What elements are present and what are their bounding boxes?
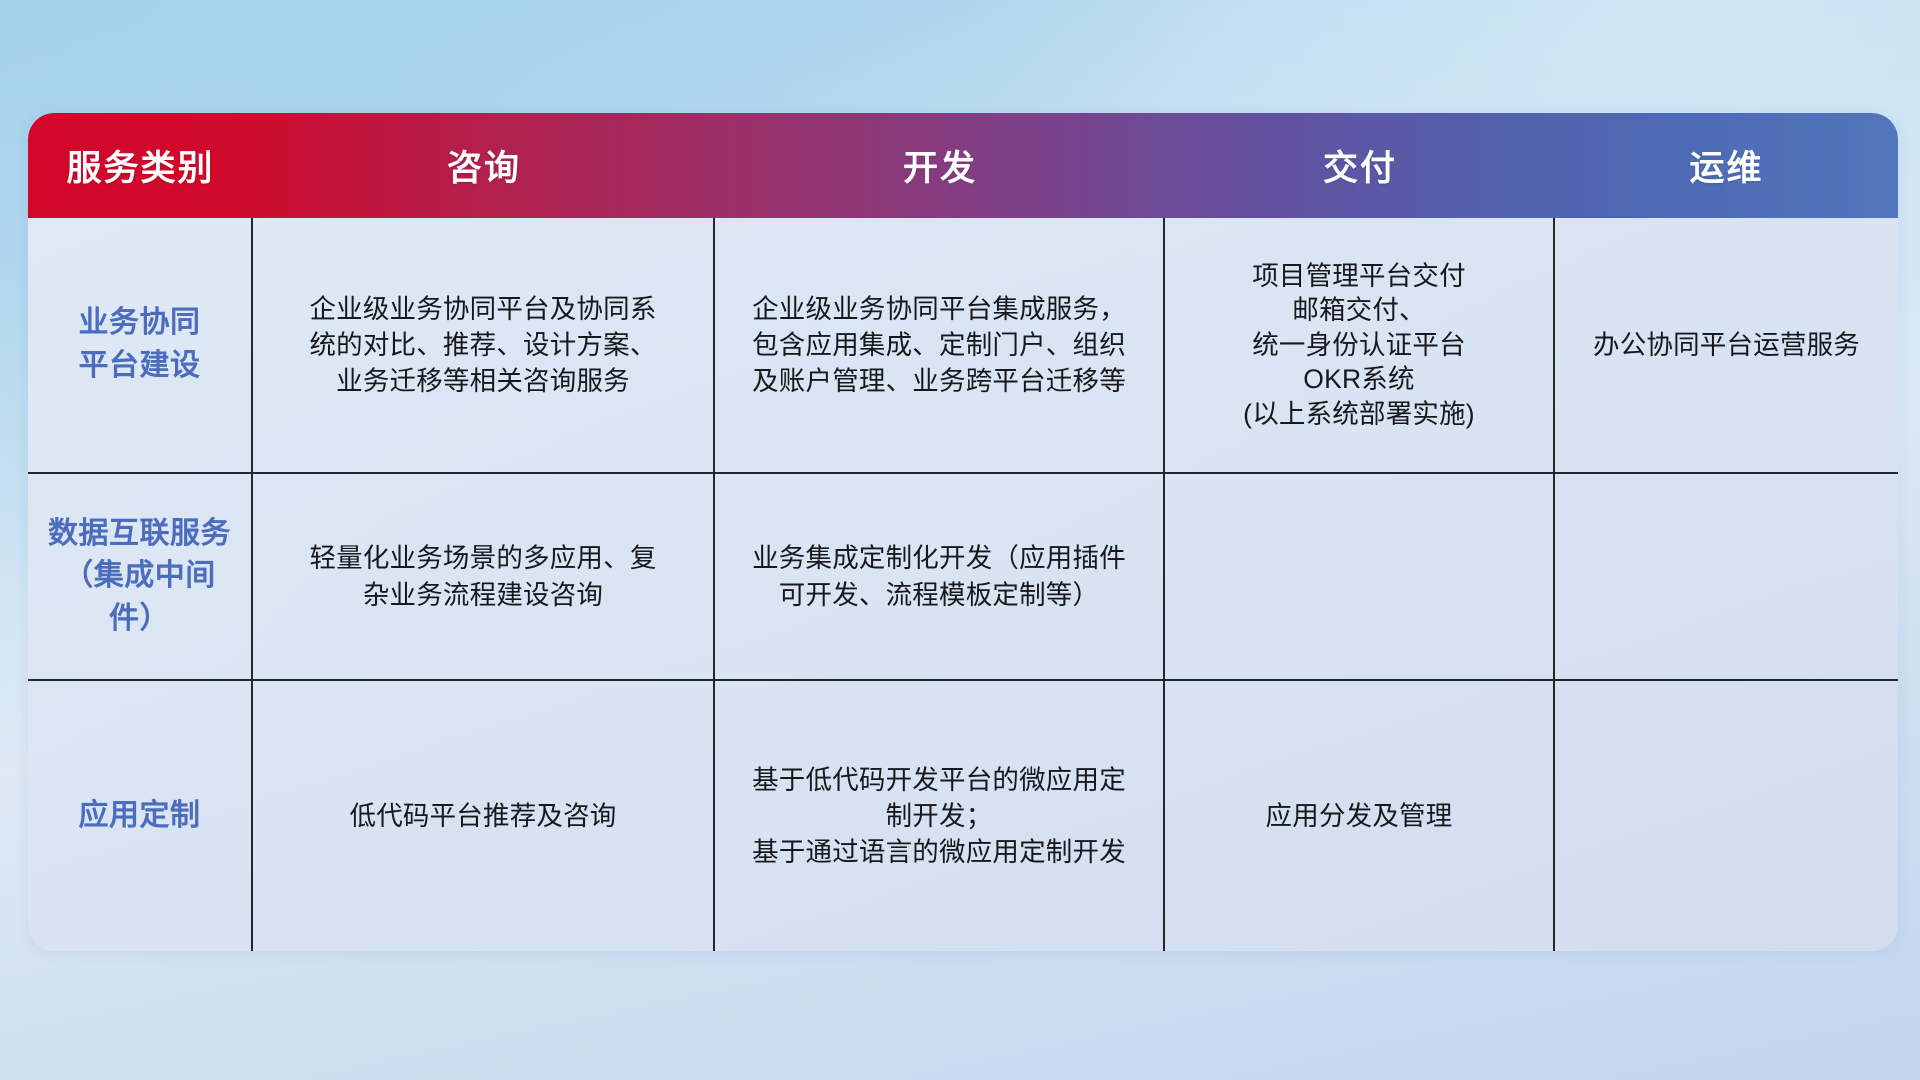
cell-operations — [1555, 474, 1898, 679]
row-category-label: 应用定制 — [79, 795, 201, 838]
header-cell-service-category: 服务类别 — [28, 140, 253, 191]
cell-development: 基于低代码开发平台的微应用定 制开发； 基于通过语言的微应用定制开发 — [715, 681, 1165, 951]
cell-text: 基于低代码开发平台的微应用定 制开发； 基于通过语言的微应用定制开发 — [752, 762, 1126, 870]
table-row: 数据互联服务 （集成中间件） 轻量化业务场景的多应用、复 杂业务流程建设咨询 业… — [28, 474, 1898, 681]
table-row: 应用定制 低代码平台推荐及咨询 基于低代码开发平台的微应用定 制开发； 基于通过… — [28, 681, 1898, 951]
cell-text: 轻量化业务场景的多应用、复 杂业务流程建设咨询 — [309, 540, 656, 612]
cell-operations — [1555, 681, 1898, 951]
header-cell-operations: 运维 — [1555, 140, 1898, 191]
cell-text: 低代码平台推荐及咨询 — [350, 798, 617, 834]
cell-delivery: 项目管理平台交付 邮箱交付、 统一身份认证平台 OKR系统 (以上系统部署实施) — [1165, 218, 1555, 472]
table-row: 业务协同 平台建设 企业级业务协同平台及协同系 统的对比、推荐、设计方案、 业务… — [28, 218, 1898, 474]
table-header-row: 服务类别 咨询 开发 交付 运维 — [28, 113, 1898, 218]
cell-operations: 办公协同平台运营服务 — [1555, 218, 1898, 472]
cell-consulting: 轻量化业务场景的多应用、复 杂业务流程建设咨询 — [253, 474, 715, 679]
row-category-label: 数据互联服务 （集成中间件） — [42, 513, 237, 641]
table-body: 业务协同 平台建设 企业级业务协同平台及协同系 统的对比、推荐、设计方案、 业务… — [28, 218, 1898, 951]
row-category-cell: 应用定制 — [28, 681, 253, 951]
service-matrix-table: 服务类别 咨询 开发 交付 运维 业务协同 平台建设 企业级业务协同平台及协同系… — [28, 113, 1898, 951]
row-category-cell: 业务协同 平台建设 — [28, 218, 253, 472]
cell-development: 业务集成定制化开发（应用插件 可开发、流程模板定制等） — [715, 474, 1165, 679]
cell-text: 项目管理平台交付 邮箱交付、 统一身份认证平台 OKR系统 (以上系统部署实施) — [1243, 259, 1475, 431]
cell-development: 企业级业务协同平台集成服务， 包含应用集成、定制门户、组织 及账户管理、业务跨平… — [715, 218, 1165, 472]
header-cell-development: 开发 — [715, 140, 1165, 191]
cell-consulting: 企业级业务协同平台及协同系 统的对比、推荐、设计方案、 业务迁移等相关咨询服务 — [253, 218, 715, 472]
row-category-cell: 数据互联服务 （集成中间件） — [28, 474, 253, 679]
header-cell-delivery: 交付 — [1165, 140, 1555, 191]
header-cell-consulting: 咨询 — [253, 140, 715, 191]
cell-text: 业务集成定制化开发（应用插件 可开发、流程模板定制等） — [752, 540, 1126, 612]
cell-text: 应用分发及管理 — [1266, 798, 1453, 834]
cell-consulting: 低代码平台推荐及咨询 — [253, 681, 715, 951]
cell-delivery — [1165, 474, 1555, 679]
cell-text: 企业级业务协同平台及协同系 统的对比、推荐、设计方案、 业务迁移等相关咨询服务 — [309, 291, 656, 399]
cell-text: 办公协同平台运营服务 — [1593, 327, 1860, 363]
cell-delivery: 应用分发及管理 — [1165, 681, 1555, 951]
cell-text: 企业级业务协同平台集成服务， 包含应用集成、定制门户、组织 及账户管理、业务跨平… — [752, 291, 1126, 399]
row-category-label: 业务协同 平台建设 — [79, 302, 201, 387]
